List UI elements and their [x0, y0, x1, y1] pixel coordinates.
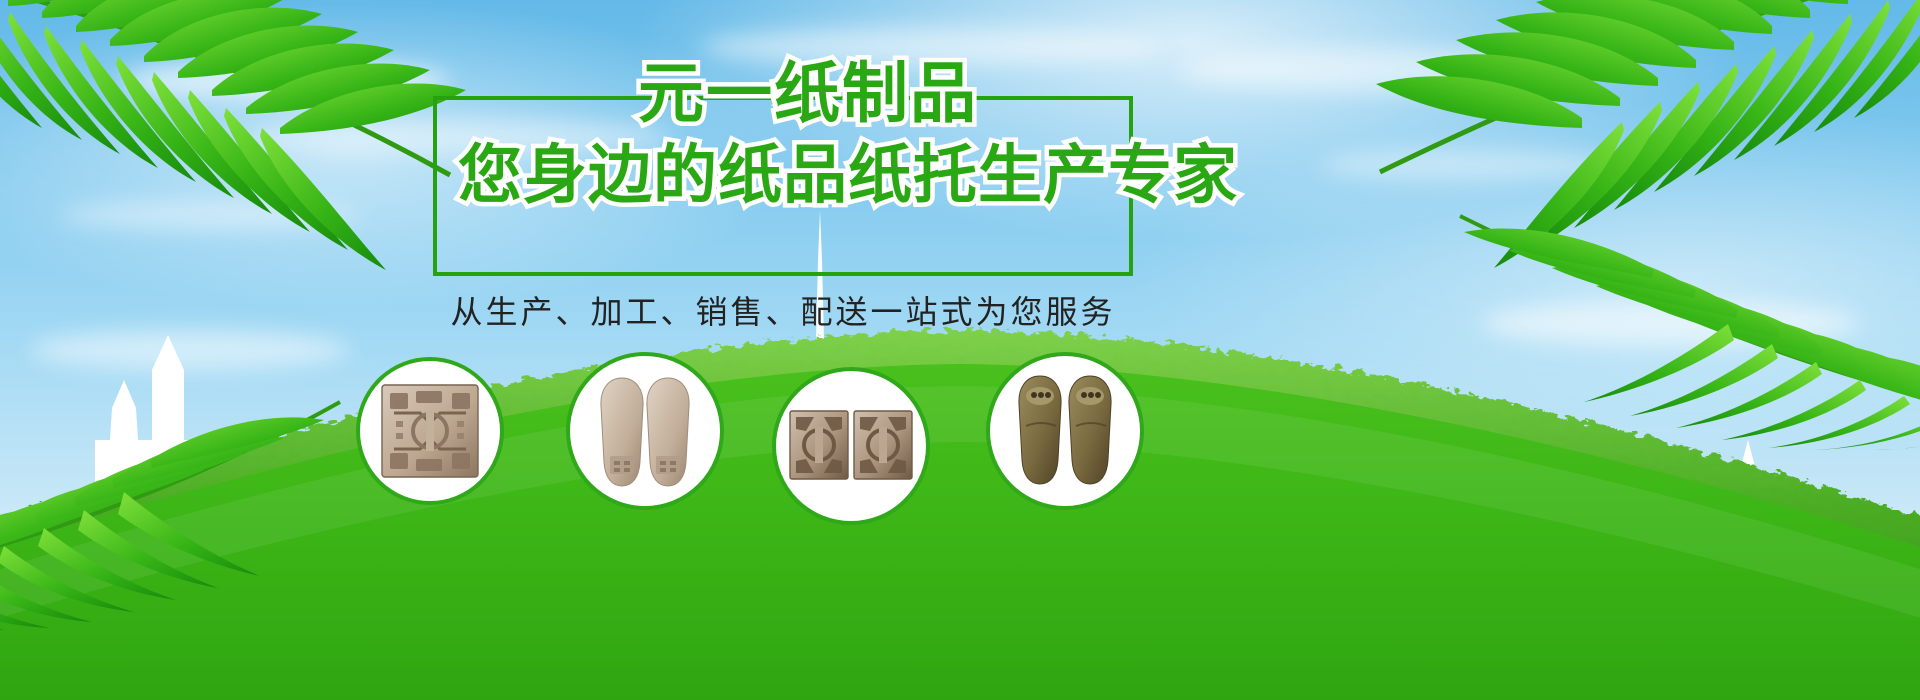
molded-pulp-corner-pair	[776, 371, 926, 521]
palm-frond-icon	[0, 0, 470, 290]
brand-title-row: 元一纸制品	[638, 61, 1278, 127]
product-circle-3[interactable]	[772, 367, 930, 525]
tagline: 从生产、加工、销售、配送一站式为您服务	[433, 287, 1133, 333]
headline-text: 您身边的纸品纸托生产专家	[458, 139, 1238, 213]
molded-pulp-shoe-tree	[990, 356, 1140, 506]
product-circle-4[interactable]	[986, 352, 1144, 510]
palm-frond-icon	[1440, 150, 1920, 450]
palm-frond-icon	[0, 330, 350, 630]
product-circle-2[interactable]	[566, 352, 724, 510]
molded-pulp-square-tray	[360, 361, 500, 501]
molded-pulp-shoe-insert	[570, 356, 720, 506]
promo-banner: 元一纸制品 您身边的纸品纸托生产专家 从生产、加工、销售、配送一站式为您服务	[0, 0, 1920, 700]
brand-title: 元一纸制品	[638, 55, 978, 132]
headline-row: 您身边的纸品纸托生产专家	[458, 144, 1158, 208]
headline-block: 元一纸制品 您身边的纸品纸托生产专家	[433, 96, 1133, 276]
product-circle-1[interactable]	[356, 357, 504, 505]
